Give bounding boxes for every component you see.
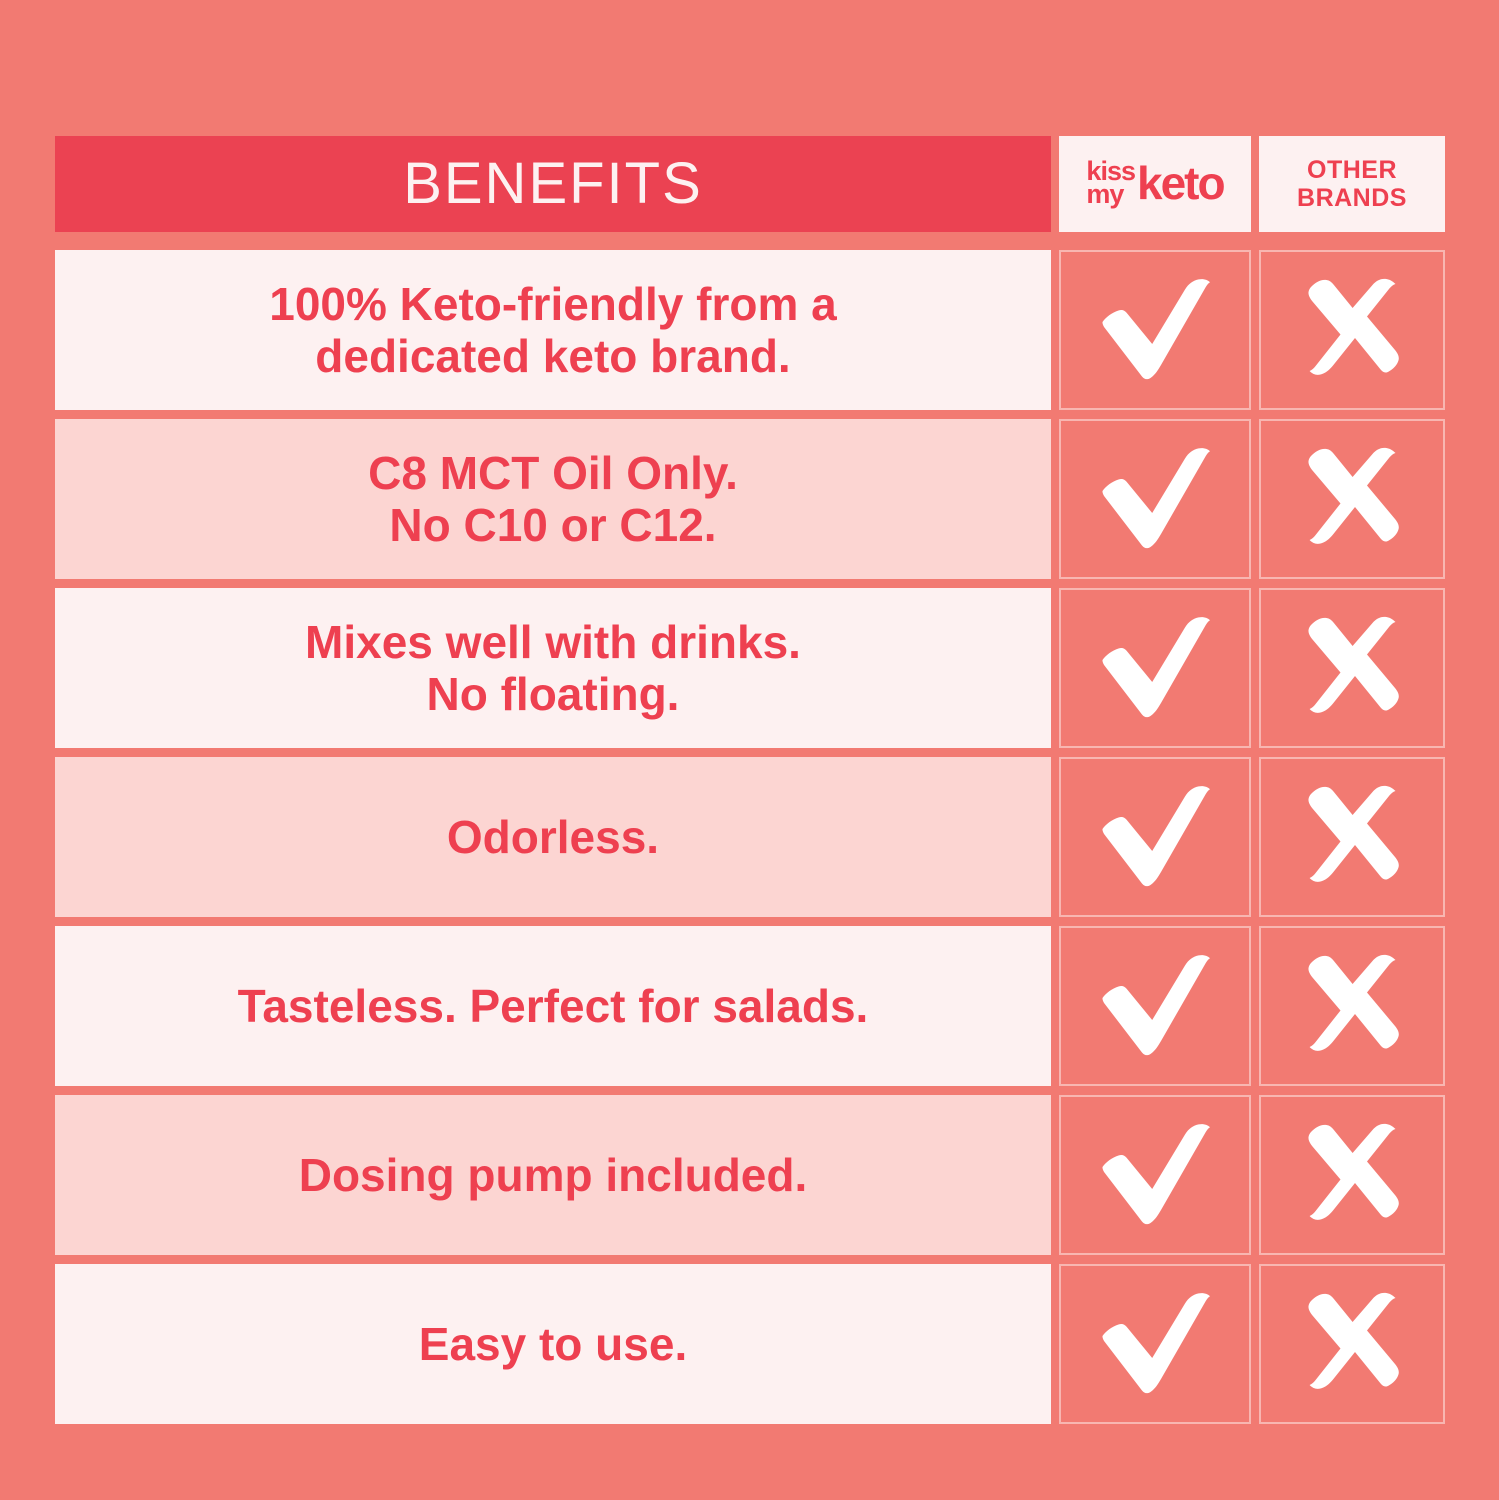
other-brands-mark-cell [1259,419,1445,579]
logo-line-my: my [1086,183,1123,206]
benefits-title: BENEFITS [403,155,703,213]
check-mark-icon [1099,278,1211,382]
benefit-cell: Tasteless. Perfect for salads. [55,926,1051,1086]
logo-word-keto: keto [1137,164,1224,203]
check-mark-icon [1099,447,1211,551]
header-other-brands: OTHER BRANDS [1259,136,1445,232]
logo-stack: kiss my [1086,160,1135,205]
kiss-my-keto-mark-cell [1059,1095,1251,1255]
benefit-text: Dosing pump included. [299,1149,808,1201]
benefit-text: C8 MCT Oil Only. No C10 or C12. [368,447,738,552]
kiss-my-keto-mark-cell [1059,926,1251,1086]
table-body: 100% Keto-friendly from a dedicated keto… [55,250,1445,1424]
table-row: Dosing pump included. [55,1095,1445,1255]
cross-mark-icon [1300,616,1404,720]
benefit-text: Easy to use. [419,1318,687,1370]
table-header-row: BENEFITS kiss my keto OTHER BRANDS [55,136,1445,232]
kiss-my-keto-mark-cell [1059,250,1251,410]
benefit-cell: C8 MCT Oil Only. No C10 or C12. [55,419,1051,579]
other-brands-mark-cell [1259,1095,1445,1255]
kiss-my-keto-mark-cell [1059,419,1251,579]
kiss-my-keto-mark-cell [1059,588,1251,748]
benefit-cell: Odorless. [55,757,1051,917]
check-mark-icon [1099,1123,1211,1227]
table-row: Odorless. [55,757,1445,917]
kiss-my-keto-mark-cell [1059,757,1251,917]
other-brands-title: OTHER BRANDS [1259,156,1445,212]
cross-mark-icon [1300,447,1404,551]
other-brands-mark-cell [1259,250,1445,410]
benefit-cell: Dosing pump included. [55,1095,1051,1255]
benefit-text: Tasteless. Perfect for salads. [238,980,869,1032]
table-row: Mixes well with drinks. No floating. [55,588,1445,748]
comparison-chart: BENEFITS kiss my keto OTHER BRANDS 100% … [0,0,1499,1500]
table-row: Easy to use. [55,1264,1445,1424]
kiss-my-keto-mark-cell [1059,1264,1251,1424]
benefit-cell: Easy to use. [55,1264,1051,1424]
benefit-text: Mixes well with drinks. No floating. [305,616,801,721]
other-brands-mark-cell [1259,757,1445,917]
check-mark-icon [1099,785,1211,889]
benefit-cell: Mixes well with drinks. No floating. [55,588,1051,748]
other-brands-mark-cell [1259,926,1445,1086]
check-mark-icon [1099,954,1211,1058]
kiss-my-keto-logo: kiss my keto [1086,160,1223,205]
check-mark-icon [1099,1292,1211,1396]
benefit-text: 100% Keto-friendly from a dedicated keto… [269,278,836,383]
cross-mark-icon [1300,1123,1404,1227]
table-row: Tasteless. Perfect for salads. [55,926,1445,1086]
table-row: C8 MCT Oil Only. No C10 or C12. [55,419,1445,579]
other-brands-mark-cell [1259,1264,1445,1424]
cross-mark-icon [1300,278,1404,382]
benefit-text: Odorless. [447,811,659,863]
header-kiss-my-keto: kiss my keto [1059,136,1251,232]
cross-mark-icon [1300,954,1404,1058]
table-row: 100% Keto-friendly from a dedicated keto… [55,250,1445,410]
other-brands-mark-cell [1259,588,1445,748]
header-benefits: BENEFITS [55,136,1051,232]
benefit-cell: 100% Keto-friendly from a dedicated keto… [55,250,1051,410]
check-mark-icon [1099,616,1211,720]
cross-mark-icon [1300,1292,1404,1396]
comparison-table: BENEFITS kiss my keto OTHER BRANDS 100% … [55,136,1445,1424]
cross-mark-icon [1300,785,1404,889]
